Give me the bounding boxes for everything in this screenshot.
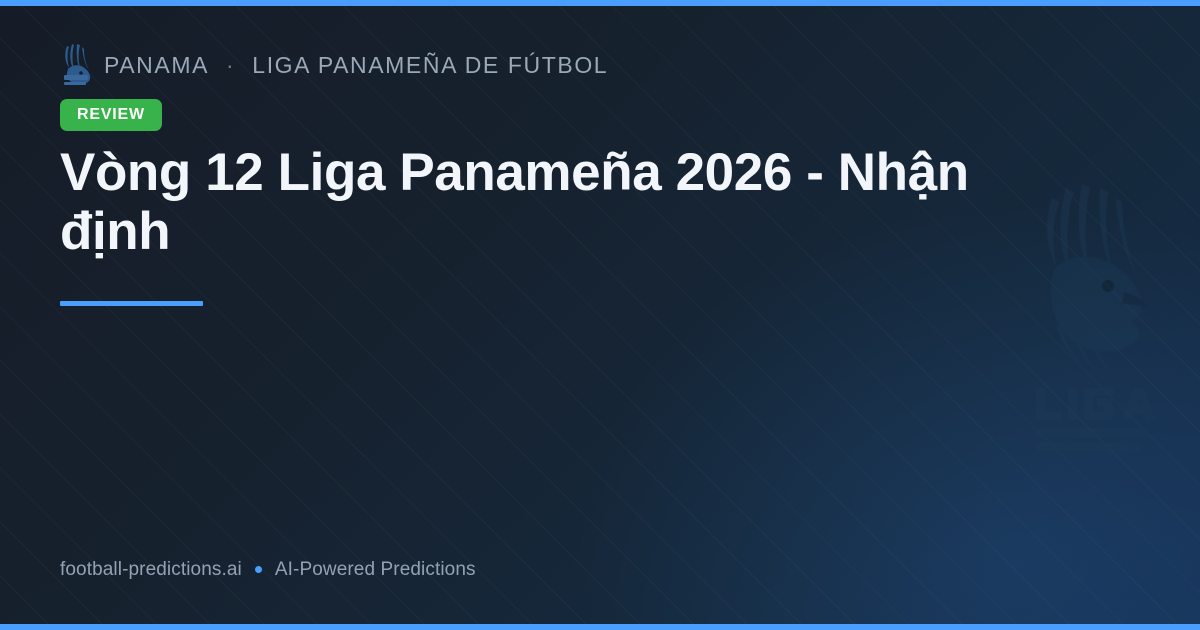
breadcrumb: PANAMA · Liga Panameña de Fútbol — [60, 40, 608, 90]
breadcrumb-league: Liga Panameña de Fútbol — [252, 54, 608, 77]
liga-panamena-crest-watermark-icon — [1022, 176, 1162, 456]
footer: football-predictions.ai AI-Powered Predi… — [60, 556, 476, 582]
footer-tagline: AI-Powered Predictions — [275, 560, 476, 579]
og-card: PANAMA · Liga Panameña de Fútbol REVIEW … — [0, 0, 1200, 630]
page-title: Vòng 12 Liga Panameña 2026 - Nhận định — [60, 143, 1000, 262]
title-divider — [60, 301, 203, 306]
blue-dot-icon — [255, 566, 262, 573]
breadcrumb-separator: · — [221, 54, 240, 77]
liga-panamena-crest-icon — [60, 42, 92, 88]
breadcrumb-country: PANAMA — [104, 54, 209, 77]
content-column: PANAMA · Liga Panameña de Fútbol REVIEW … — [60, 0, 1000, 630]
status-badge: REVIEW — [60, 99, 162, 131]
footer-site-name: football-predictions.ai — [60, 560, 242, 579]
